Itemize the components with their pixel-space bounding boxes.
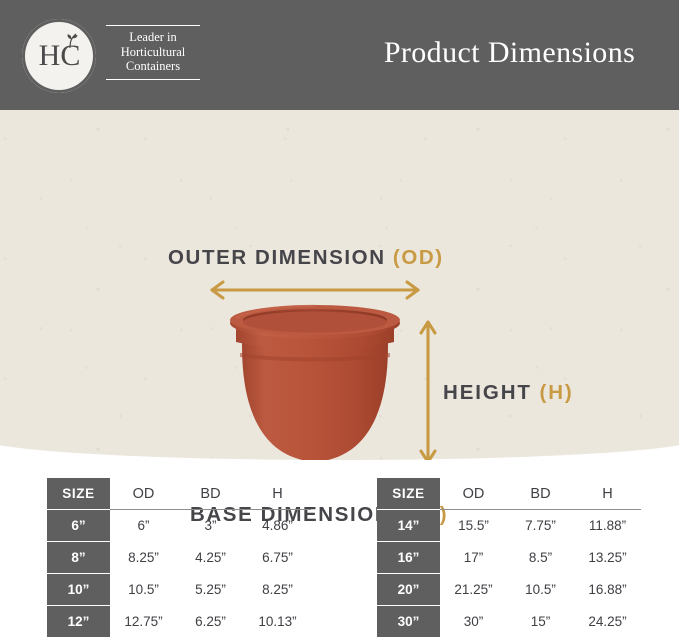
cell-od: 10.5” <box>110 574 177 606</box>
od-label-code: (OD) <box>393 246 444 269</box>
cell-bd: 15” <box>507 606 574 638</box>
od-label-text: OUTER DIMENSION <box>168 246 386 269</box>
cell-size: 16” <box>377 542 440 574</box>
table-left-header: SIZE OD BD H <box>47 478 311 510</box>
cell-od: 6” <box>110 510 177 542</box>
table-header-row: SIZE OD BD H <box>47 478 311 510</box>
table-row: 20” 21.25” 10.5” 16.88” <box>377 574 641 606</box>
cell-bd: 5.25” <box>177 574 244 606</box>
height-label-text: HEIGHT <box>443 381 532 404</box>
cell-od: 15.5” <box>440 510 507 542</box>
cell-size: 30” <box>377 606 440 638</box>
cell-size: 10” <box>47 574 110 606</box>
page-header: HC Leader in Horticultural Containers Pr… <box>0 0 679 110</box>
cell-bd: 3” <box>177 510 244 542</box>
table-row: 12” 12.75” 6.25” 10.13” <box>47 606 311 638</box>
tagline-rule-bottom <box>106 79 200 80</box>
cell-h: 6.75” <box>244 542 311 574</box>
cell-bd: 6.25” <box>177 606 244 638</box>
height-label: HEIGHT (H) <box>443 381 574 405</box>
column-header-bd: BD <box>507 478 574 510</box>
pot-rim-inner-face <box>243 312 387 333</box>
height-arrow <box>421 322 435 460</box>
page-title: Product Dimensions <box>340 0 679 110</box>
column-header-h: H <box>574 478 641 510</box>
table-row: 16” 17” 8.5” 13.25” <box>377 542 641 574</box>
diagram-panel: OUTER DIMENSION (OD) BASE DIMENSION (BD)… <box>0 110 679 460</box>
column-header-od: OD <box>440 478 507 510</box>
cell-size: 8” <box>47 542 110 574</box>
pot-diagram-illustration <box>0 110 679 460</box>
column-header-bd: BD <box>177 478 244 510</box>
outer-dimension-label: OUTER DIMENSION (OD) <box>168 246 444 270</box>
column-header-od: OD <box>110 478 177 510</box>
table-header-row: SIZE OD BD H <box>377 478 641 510</box>
cell-h: 8.25” <box>244 574 311 606</box>
cell-od: 21.25” <box>440 574 507 606</box>
cell-od: 12.75” <box>110 606 177 638</box>
cell-bd: 10.5” <box>507 574 574 606</box>
cell-h: 11.88” <box>574 510 641 542</box>
cell-h: 16.88” <box>574 574 641 606</box>
tagline-line-1: Leader in <box>104 30 202 45</box>
column-header-size: SIZE <box>47 478 110 510</box>
outer-dimension-arrow <box>212 282 418 298</box>
size-table-right: SIZE OD BD H 14” 15.5” 7.75” 11.88” 16” … <box>377 478 641 638</box>
brand-logo: HC Leader in Horticultural Containers <box>22 18 202 94</box>
cell-bd: 4.25” <box>177 542 244 574</box>
column-header-size: SIZE <box>377 478 440 510</box>
cell-bd: 8.5” <box>507 542 574 574</box>
hc-monogram: HC <box>22 41 96 71</box>
table-row: 30” 30” 15” 24.25” <box>377 606 641 638</box>
cell-size: 6” <box>47 510 110 542</box>
table-row: 8” 8.25” 4.25” 6.75” <box>47 542 311 574</box>
tagline-line-3: Containers <box>104 59 202 74</box>
height-label-code: (H) <box>539 381 573 404</box>
table-row: 6” 6” 3” 4.86” <box>47 510 311 542</box>
cell-h: 13.25” <box>574 542 641 574</box>
column-header-h: H <box>244 478 311 510</box>
cell-od: 8.25” <box>110 542 177 574</box>
tagline-line-2: Horticultural <box>104 45 202 60</box>
cell-size: 14” <box>377 510 440 542</box>
table-row: 14” 15.5” 7.75” 11.88” <box>377 510 641 542</box>
cell-size: 12” <box>47 606 110 638</box>
cell-od: 30” <box>440 606 507 638</box>
cell-h: 10.13” <box>244 606 311 638</box>
hc-circle-logo-icon: HC <box>22 19 96 93</box>
table-row: 10” 10.5” 5.25” 8.25” <box>47 574 311 606</box>
cell-bd: 7.75” <box>507 510 574 542</box>
brand-tagline: Leader in Horticultural Containers <box>104 22 202 83</box>
cell-od: 17” <box>440 542 507 574</box>
cell-h: 4.86” <box>244 510 311 542</box>
table-left-body: 6” 6” 3” 4.86” 8” 8.25” 4.25” 6.75” 10” … <box>47 510 311 638</box>
table-right-body: 14” 15.5” 7.75” 11.88” 16” 17” 8.5” 13.2… <box>377 510 641 638</box>
cell-size: 20” <box>377 574 440 606</box>
table-right-header: SIZE OD BD H <box>377 478 641 510</box>
tagline-rule-top <box>106 25 200 26</box>
size-table-left: SIZE OD BD H 6” 6” 3” 4.86” 8” 8.25” 4.2… <box>47 478 311 638</box>
cell-h: 24.25” <box>574 606 641 638</box>
